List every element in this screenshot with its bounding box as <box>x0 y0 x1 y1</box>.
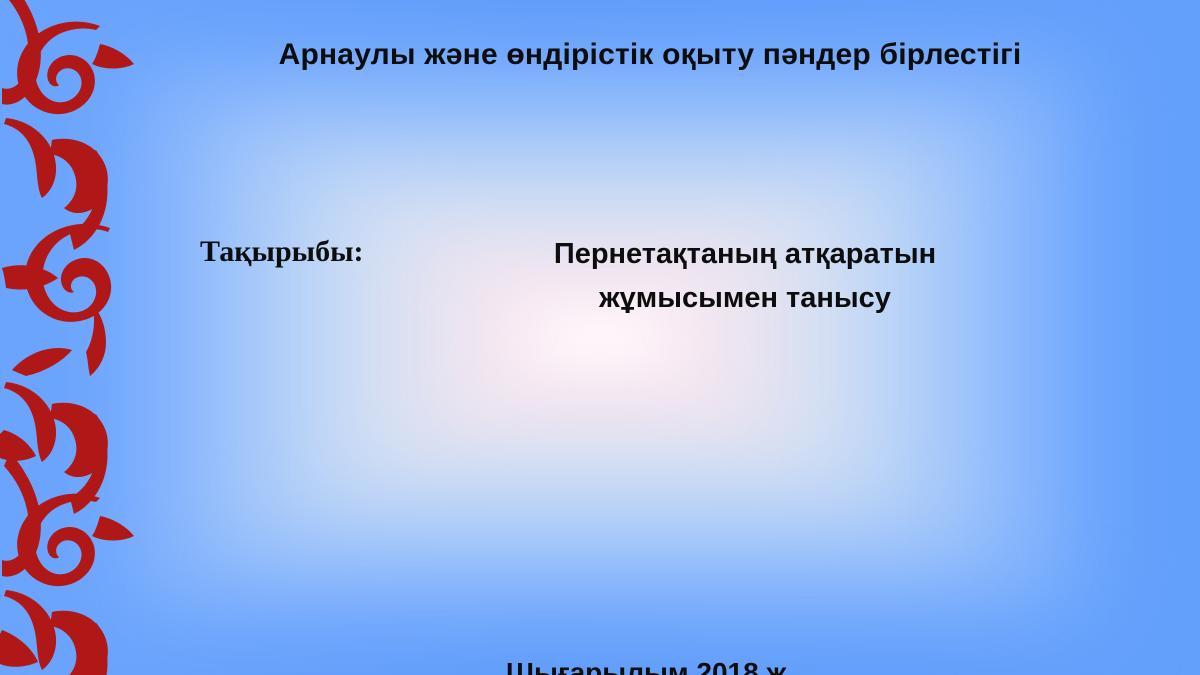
topic-text-line-1: Пернетақтаның атқаратын <box>554 238 936 270</box>
slide-background-layer-2 <box>190 105 1010 570</box>
page-title: Арнаулы және өндірістік оқыту пәндер бір… <box>150 38 1150 72</box>
topic-block: Тақырыбы: Пернетақтаның атқаратын жұмысы… <box>150 232 1150 320</box>
topic-label: Тақырыбы: <box>150 232 410 272</box>
slide-background-layer-1 <box>110 55 1090 620</box>
presentation-slide: Арнаулы және өндірістік оқыту пәндер бір… <box>0 0 1200 675</box>
slide-footer: Шығарылым 2018 ж. <box>150 657 1150 675</box>
topic-text: Пернетақтаның атқаратын жұмысымен танысу <box>410 232 1150 320</box>
floral-swirl-ornament-icon <box>0 0 150 675</box>
slide-background-base <box>0 0 1200 675</box>
slide-background-layer-8 <box>556 322 644 353</box>
slide-background-layer-3 <box>270 150 930 525</box>
topic-text-line-2: жұмысымен танысу <box>410 276 1080 320</box>
